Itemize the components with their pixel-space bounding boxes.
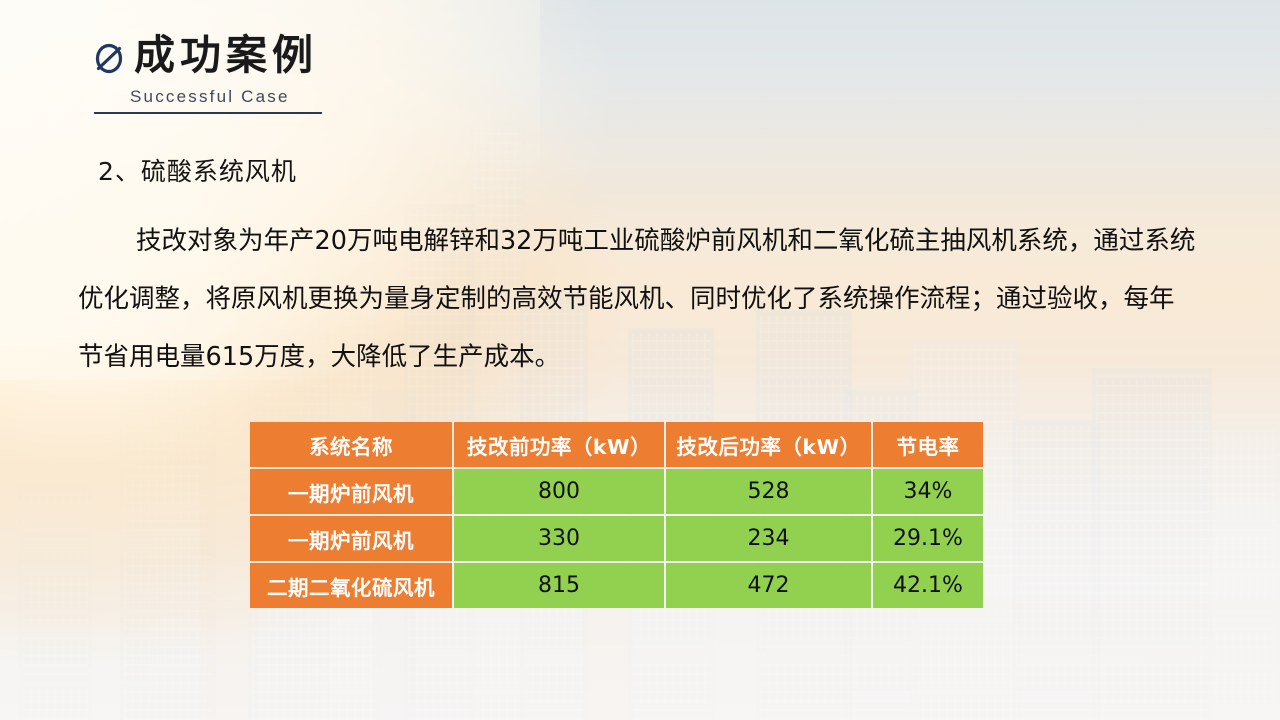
table-cell-system-name: 二期二氧化硫风机 [250, 563, 452, 608]
results-table: 系统名称 技改前功率（kW） 技改后功率（kW） 节电率 一期炉前风机 800 … [248, 420, 985, 610]
body-paragraph: 技改对象为年产20万吨电解锌和32万吨工业硫酸炉前风机和二氧化硫主抽风机系统，通… [78, 212, 1246, 386]
table-header-row: 系统名称 技改前功率（kW） 技改后功率（kW） 节电率 [250, 422, 983, 467]
table-cell-power-before: 815 [454, 563, 664, 608]
page-title: 成功案例 [134, 34, 318, 77]
table-cell-system-name: 一期炉前风机 [250, 469, 452, 514]
table-cell-power-after: 234 [666, 516, 871, 561]
table-cell-saving-rate: 42.1% [873, 563, 983, 608]
null-set-icon [92, 41, 126, 75]
table-cell-power-after: 528 [666, 469, 871, 514]
title-row: 成功案例 [92, 34, 512, 77]
table-cell-power-before: 330 [454, 516, 664, 561]
paragraph-line: 优化调整，将原风机更换为量身定制的高效节能风机、同时优化了系统操作流程；通过验收… [78, 270, 1246, 328]
table-row: 一期炉前风机 800 528 34% [250, 469, 983, 514]
table-cell-power-after: 472 [666, 563, 871, 608]
title-divider [94, 112, 322, 114]
slide-canvas: 成功案例 Successful Case 2、硫酸系统风机 技改对象为年产20万… [0, 0, 1280, 720]
table-header-cell-system-name: 系统名称 [250, 422, 452, 467]
page-subtitle-en: Successful Case [130, 87, 512, 107]
table-row: 二期二氧化硫风机 815 472 42.1% [250, 563, 983, 608]
table-cell-saving-rate: 34% [873, 469, 983, 514]
table-header-cell-saving-rate: 节电率 [873, 422, 983, 467]
table-header-cell-power-before: 技改前功率（kW） [454, 422, 664, 467]
table-header-cell-power-after: 技改后功率（kW） [666, 422, 871, 467]
paragraph-line: 节省用电量615万度，大降低了生产成本。 [78, 328, 1246, 386]
results-table-wrapper: 系统名称 技改前功率（kW） 技改后功率（kW） 节电率 一期炉前风机 800 … [248, 420, 985, 610]
table-cell-saving-rate: 29.1% [873, 516, 983, 561]
section-heading: 2、硫酸系统风机 [98, 152, 297, 188]
paragraph-line: 技改对象为年产20万吨电解锌和32万吨工业硫酸炉前风机和二氧化硫主抽风机系统，通… [78, 212, 1246, 270]
slide-header: 成功案例 Successful Case [92, 34, 512, 114]
table-row: 一期炉前风机 330 234 29.1% [250, 516, 983, 561]
table-cell-system-name: 一期炉前风机 [250, 516, 452, 561]
table-cell-power-before: 800 [454, 469, 664, 514]
